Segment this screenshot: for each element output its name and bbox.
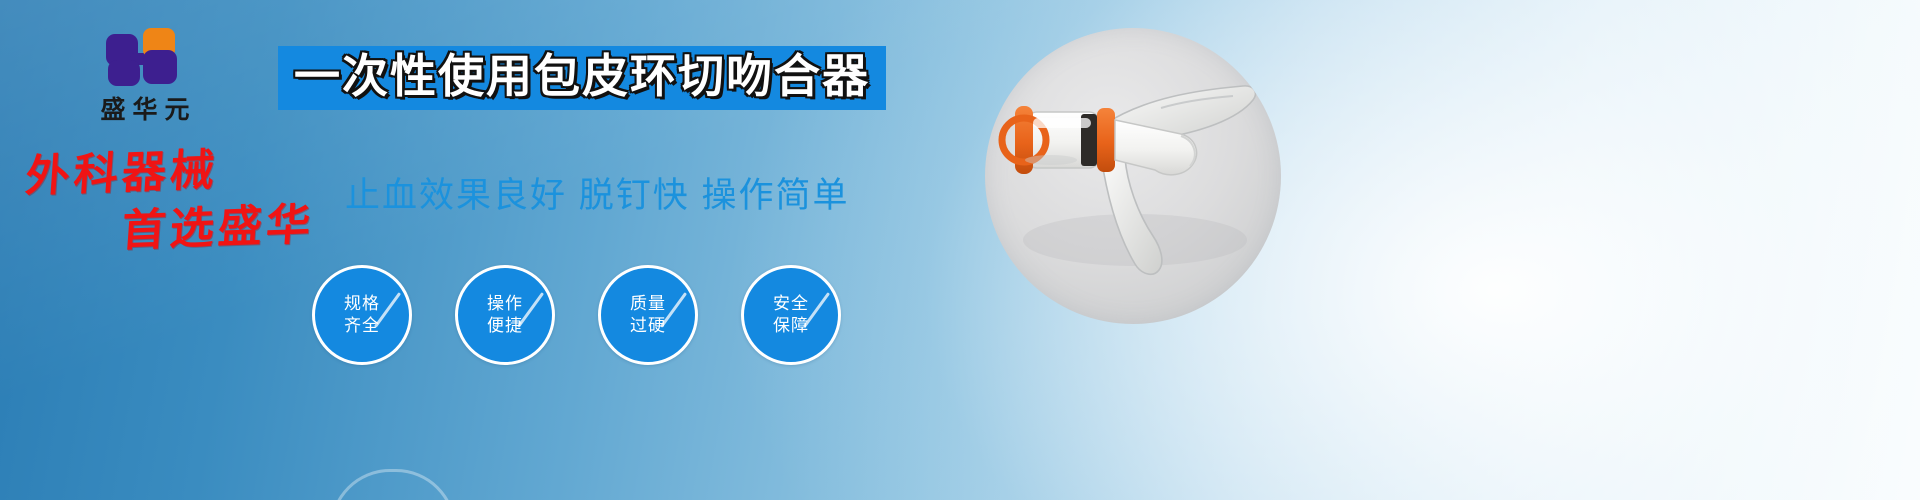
feature-badge-2-line1: 操作 xyxy=(487,293,523,315)
feature-badge-1-line1: 规格 xyxy=(344,293,380,315)
promo-banner: 盛华元 一次性使用包皮环切吻合器 外科器械 首选盛华 止血效果良好 脱钉快 操作… xyxy=(0,0,1920,500)
feature-badge-2-line2: 便捷 xyxy=(487,315,523,337)
feature-badge-3-line2: 过硬 xyxy=(630,315,666,337)
logo-square-purple-bottom xyxy=(108,60,140,86)
feature-badge-1[interactable]: 规格 齐全 xyxy=(312,265,412,365)
logo-square-purple-right xyxy=(143,50,177,84)
product-illustration xyxy=(985,28,1281,324)
decorative-arc xyxy=(330,469,456,500)
feature-badge-3[interactable]: 质量 过硬 xyxy=(598,265,698,365)
product-title: 一次性使用包皮环切吻合器 xyxy=(294,52,870,100)
brand-name: 盛华元 xyxy=(60,97,230,125)
feature-badge-3-line1: 质量 xyxy=(630,293,666,315)
feature-badge-4[interactable]: 安全 保障 xyxy=(741,265,841,365)
product-title-bar: 一次性使用包皮环切吻合器 xyxy=(278,46,886,110)
feature-badge-1-line2: 齐全 xyxy=(344,315,380,337)
slogan-calligraphy: 外科器械 首选盛华 xyxy=(18,150,338,250)
slogan-line-1: 外科器械 xyxy=(24,145,340,200)
feature-badge-4-line2: 保障 xyxy=(773,315,809,337)
slogan-line-2: 首选盛华 xyxy=(120,202,340,254)
feature-badge-2[interactable]: 操作 便捷 xyxy=(455,265,555,365)
feature-badge-list: 规格 齐全 操作 便捷 质量 过硬 安全 保障 xyxy=(312,265,841,365)
product-photo xyxy=(985,28,1281,324)
orange-collar-mid xyxy=(1097,108,1115,172)
logo-mark-icon xyxy=(106,28,184,90)
brand-logo[interactable]: 盛华元 xyxy=(60,28,230,125)
feature-subtitle: 止血效果良好 脱钉快 操作简单 xyxy=(345,167,849,218)
feature-badge-4-line1: 安全 xyxy=(773,293,809,315)
